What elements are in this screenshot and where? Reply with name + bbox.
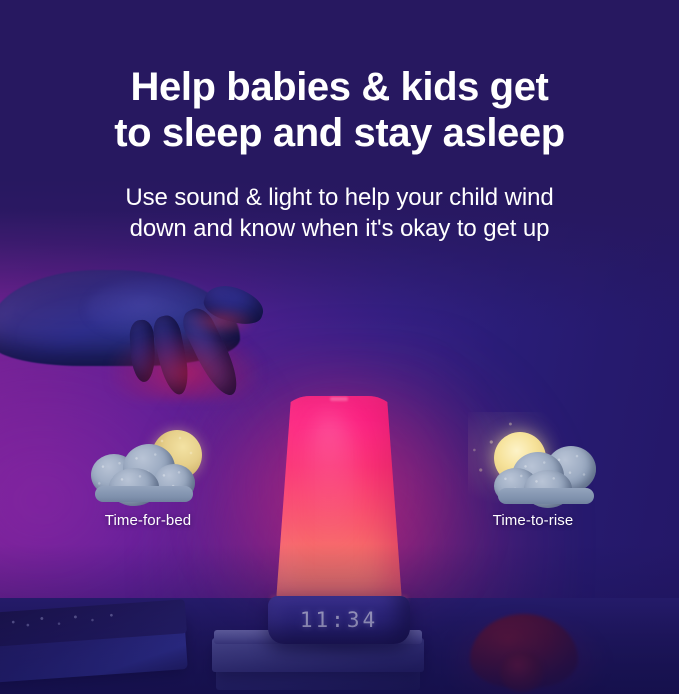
icon-block-time-for-bed: Time-for-bed (73, 424, 223, 529)
icon-block-time-to-rise: Time-to-rise (458, 424, 608, 529)
subhead-line-2: down and know when it's okay to get up (0, 214, 679, 245)
marketing-copy: Help babies & kids get to sleep and stay… (0, 0, 679, 244)
headline-line-2: to sleep and stay asleep (0, 110, 679, 156)
sun-behind-clouds-icon (458, 424, 608, 508)
icon-label-time-to-rise: Time-to-rise (458, 512, 608, 529)
lamp-top-vent (330, 397, 348, 401)
page-headline: Help babies & kids get to sleep and stay… (0, 0, 679, 157)
page-subheadline: Use sound & light to help your child win… (0, 157, 679, 244)
icon-label-time-for-bed: Time-for-bed (73, 512, 223, 529)
cloud-base (498, 488, 594, 504)
product-marketing-image: 11:34 Time-for-bed (0, 0, 679, 694)
subhead-line-1: Use sound & light to help your child win… (125, 184, 553, 211)
headline-line-1: Help babies & kids get (131, 65, 549, 109)
lamp-dome-highlight (302, 410, 356, 560)
cloud-base (95, 486, 193, 502)
bottom-vignette (0, 544, 679, 694)
moon-behind-clouds-icon (73, 424, 223, 508)
